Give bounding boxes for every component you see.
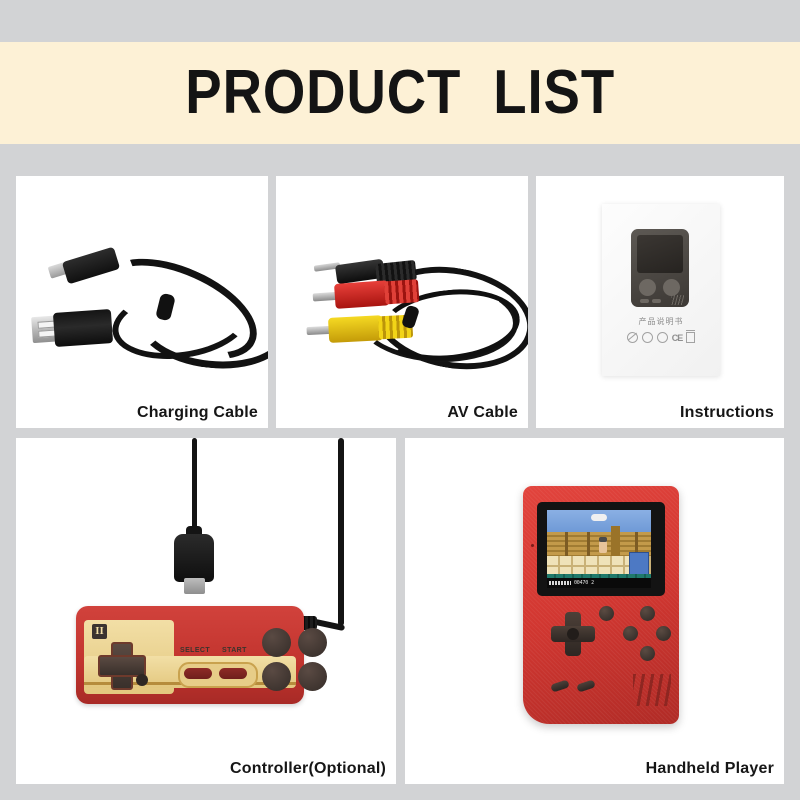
gamepad-player-badge: II <box>92 624 107 639</box>
cell-label-controller: Controller(Optional) <box>230 760 386 778</box>
rca-barrel <box>328 315 383 343</box>
controller-illustration: II SELECT START <box>16 438 396 784</box>
gamepad-select-label: SELECT <box>180 647 210 654</box>
gamepad-action-button <box>262 628 291 657</box>
instruction-booklet: 产品说明书 CE <box>602 204 720 376</box>
booklet-certification-row: CE <box>602 332 720 343</box>
handheld-action-button <box>640 646 655 661</box>
booklet-console-buttons <box>663 279 680 296</box>
game-player-sprite <box>599 541 607 553</box>
gamepad-body: II SELECT START <box>76 606 304 704</box>
handheld-power-led <box>531 544 534 547</box>
charging-cable-illustration <box>16 176 268 428</box>
game-cloud <box>591 514 607 521</box>
booklet-console-dpad <box>639 279 656 296</box>
rohs-icon <box>657 332 668 343</box>
handheld-speaker-grille <box>633 674 671 706</box>
booklet-console-select <box>640 299 649 303</box>
booklet-chinese-title: 产品说明书 <box>602 316 720 327</box>
instructions-illustration: 产品说明书 CE <box>536 176 784 428</box>
product-cell-instructions[interactable]: 产品说明书 CE Instructions <box>536 176 784 428</box>
gamepad-start-label: START <box>222 647 247 654</box>
controller-cable <box>192 438 197 533</box>
booklet-console-speaker <box>671 295 684 305</box>
weee-bin-icon <box>686 332 695 343</box>
recycle-icon <box>642 332 653 343</box>
cell-label-av-cable: AV Cable <box>447 404 518 422</box>
game-blue-crate <box>629 552 649 576</box>
gamepad-action-button <box>298 628 327 657</box>
game-hud: 00470 2 <box>547 578 651 588</box>
micro-usb-plug <box>174 534 214 582</box>
product-cell-av-cable[interactable]: AV Cable <box>276 176 528 428</box>
booklet-console-start <box>652 299 661 303</box>
gamepad-action-button <box>262 662 291 691</box>
handheld-start-button <box>576 679 596 692</box>
page-title: PRODUCT LIST <box>185 62 615 124</box>
booklet-console-screen <box>637 235 683 273</box>
usb-a-connector <box>53 309 113 347</box>
booklet-console-image <box>631 229 689 307</box>
handheld-menu-button <box>599 606 614 621</box>
controller-cable <box>338 438 344 626</box>
cell-label-charging-cable: Charging Cable <box>137 404 258 422</box>
game-fence-post <box>565 532 568 556</box>
handheld-select-button <box>550 679 570 692</box>
game-lives: 2 <box>591 581 594 586</box>
handheld-action-button <box>656 626 671 641</box>
product-cell-charging-cable[interactable]: Charging Cable <box>16 176 268 428</box>
handheld-console-body: 00470 2 <box>523 486 679 724</box>
gamepad-select-button <box>184 668 212 679</box>
ce-mark-icon: CE <box>672 333 683 343</box>
gamepad-start-button <box>219 668 247 679</box>
handheld-dpad-center <box>567 628 579 640</box>
handheld-screen: 00470 2 <box>547 510 651 588</box>
handheld-illustration: 00470 2 <box>405 438 784 784</box>
rca-barrel <box>334 280 390 309</box>
product-list-page: PRODUCT LIST Charging Cable <box>0 0 800 800</box>
game-fence-post <box>587 532 590 556</box>
game-health-bar <box>549 581 571 585</box>
av-cable-illustration <box>276 176 528 428</box>
product-cell-controller[interactable]: II SELECT START Controller(Optional) <box>16 438 396 784</box>
title-banner: PRODUCT LIST <box>0 42 800 144</box>
gamepad-action-button <box>298 662 327 691</box>
game-score: 00470 <box>574 581 588 586</box>
cell-label-instructions: Instructions <box>680 404 774 422</box>
handheld-action-button <box>623 626 638 641</box>
product-cell-handheld-player[interactable]: 00470 2 <box>405 438 784 784</box>
gamepad-dpad-center <box>136 674 148 686</box>
rca-boot <box>384 279 420 304</box>
cell-label-handheld-player: Handheld Player <box>646 760 774 778</box>
handheld-action-button <box>640 606 655 621</box>
micro-usb-plug-tip <box>184 578 205 594</box>
product-grid: Charging Cable <box>0 176 800 788</box>
no-dispose-icon <box>627 332 638 343</box>
handheld-screen-bezel: 00470 2 <box>537 502 665 596</box>
